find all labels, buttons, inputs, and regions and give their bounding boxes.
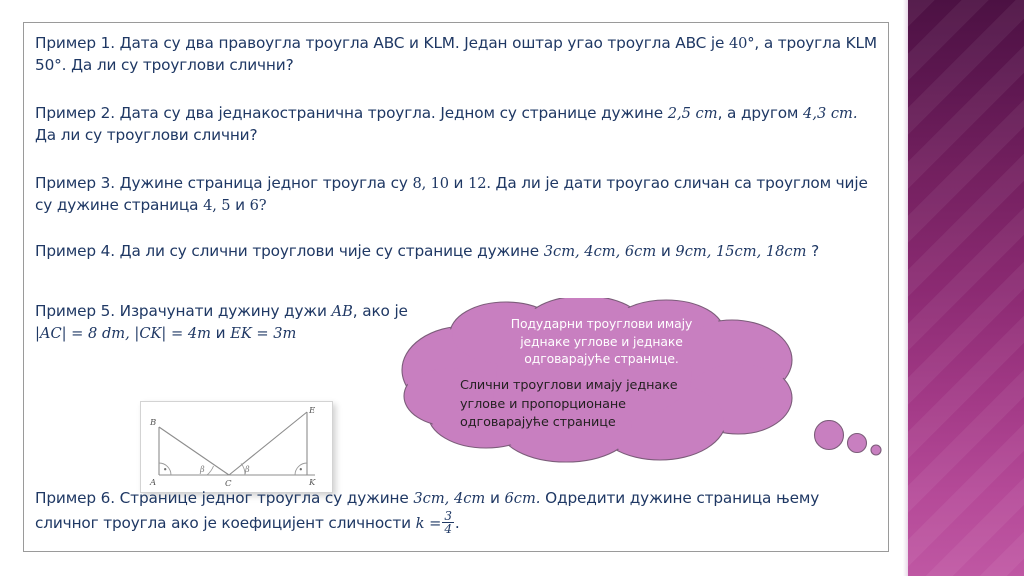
example-6-paragraph: Пример 6. Странице једног троугла су дуж… xyxy=(35,488,883,535)
slide-canvas: Пример 1. Дата су два правоугла троугла … xyxy=(0,0,1024,576)
example-6-text-d: . xyxy=(455,514,460,532)
svg-text:K: K xyxy=(308,478,316,488)
bubble-white-line-3: одговарајуће странице. xyxy=(484,350,719,368)
example-1-math-a: 40° xyxy=(729,35,754,52)
example-3-label: Пример 3. xyxy=(35,174,115,192)
example-5-text-c: и xyxy=(211,324,230,342)
example-2-text-b: , а другом xyxy=(718,104,803,122)
example-3-text-b: и xyxy=(449,174,468,192)
example-4-text-c: ? xyxy=(806,242,819,260)
example-5-paragraph: Пример 5. Израчунати дужину дужи AB, ако… xyxy=(35,301,435,344)
example-3-math-c: 4, 5 xyxy=(203,197,230,214)
example-3-math-d: 6? xyxy=(250,197,267,214)
thought-bubble-trail xyxy=(812,420,892,460)
example-4-label: Пример 4. xyxy=(35,242,115,260)
example-4-text-b: и xyxy=(656,242,675,260)
example-3-paragraph: Пример 3. Дужине страница једног троугла… xyxy=(35,173,883,216)
example-2-text-a: Дата су два једнакостранична троугла. Је… xyxy=(115,104,668,122)
example-4-text-a: Да ли су слични троуглови чије су страни… xyxy=(115,242,544,260)
example-1-paragraph: Пример 1. Дата су два правоугла троугла … xyxy=(35,33,883,75)
example-3-text-d: и xyxy=(230,196,249,214)
example-2-math-b: 4,3 cm. xyxy=(803,105,858,122)
similarity-coefficient-fraction: 34 xyxy=(442,510,454,535)
example-3-math-a: 8, 10 xyxy=(412,175,448,192)
bubble-white-text: Подударни троуглови имају једнаке углове… xyxy=(484,315,719,368)
example-1-text-a: Дата су два правоугла троугла ABC и KLM.… xyxy=(115,34,729,52)
svg-text:β: β xyxy=(199,465,205,474)
example-5-math-b: |AC| = 8 dm, |CK| = 4m xyxy=(35,325,211,342)
triangles-svg: B A C E K β β xyxy=(141,402,332,492)
geometry-figure: B A C E K β β xyxy=(140,401,333,493)
thought-trail-circles xyxy=(812,420,892,460)
example-4-math-a: 3cm, 4cm, 6cm xyxy=(544,243,656,260)
example-6-math-c: k = xyxy=(416,515,442,532)
example-2-label: Пример 2. xyxy=(35,104,115,122)
bubble-dark-text: Слични троуглови имају једнаке углове и … xyxy=(460,377,745,433)
bubble-dark-line-2: углове и пропорционане xyxy=(460,396,745,415)
decorative-purple-band xyxy=(908,0,1024,576)
bubble-white-line-2: једнаке углове и једнаке xyxy=(484,333,719,351)
example-5-math-c: EK = 3m xyxy=(230,325,296,342)
example-2-math-a: 2,5 cm xyxy=(668,105,718,122)
example-6-math-a: 3cm, 4cm xyxy=(413,490,485,507)
bubble-white-line-1: Подударни троуглови имају xyxy=(484,315,719,333)
example-5-math-a: AB xyxy=(332,303,353,320)
example-1-label: Пример 1. xyxy=(35,34,115,52)
svg-text:β: β xyxy=(244,465,250,474)
example-4-math-b: 9cm, 15cm, 18cm xyxy=(675,243,806,260)
example-6-text-a: Странице једног троугла су дужине xyxy=(115,489,413,507)
svg-text:B: B xyxy=(149,418,156,428)
thought-bubble: Подударни троуглови имају једнаке углове… xyxy=(398,298,803,463)
example-6-math-b: 6cm. xyxy=(504,490,540,507)
example-6-label: Пример 6. xyxy=(35,489,115,507)
content-frame: Пример 1. Дата су два правоугла троугла … xyxy=(23,22,889,552)
fraction-numerator: 3 xyxy=(442,510,454,522)
fraction-denominator: 4 xyxy=(442,523,454,535)
example-3-text-a: Дужине страница једног троугла су xyxy=(115,174,413,192)
example-6-text-b: и xyxy=(485,489,504,507)
example-2-text-c: Да ли су троуглови слични? xyxy=(35,126,257,144)
bubble-dark-line-3: одговарајуће странице xyxy=(460,414,745,433)
svg-text:A: A xyxy=(149,478,156,488)
bubble-dark-line-1: Слични троуглови имају једнаке xyxy=(460,377,745,396)
svg-text:E: E xyxy=(308,406,316,416)
example-5-label: Пример 5. xyxy=(35,302,115,320)
example-5-text-a: Израчунати дужину дужи xyxy=(115,302,332,320)
example-3-math-b: 12. xyxy=(468,175,491,192)
example-2-paragraph: Пример 2. Дата су два једнакостранична т… xyxy=(35,103,883,145)
example-4-paragraph: Пример 4. Да ли су слични троуглови чије… xyxy=(35,241,883,263)
